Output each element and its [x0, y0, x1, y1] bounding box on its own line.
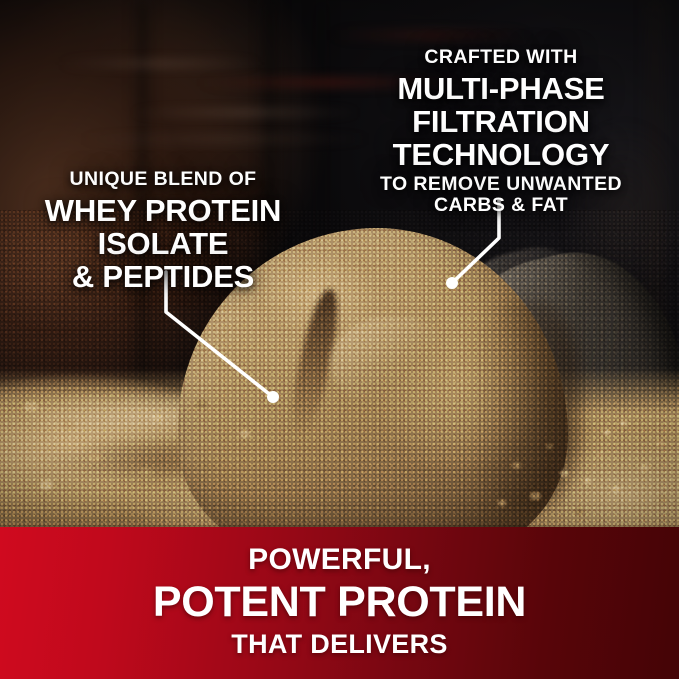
banner-line-2: POTENT PROTEIN	[0, 581, 679, 624]
bottom-banner: POWERFUL, POTENT PROTEIN THAT DELIVERS	[0, 527, 679, 679]
banner-line-1: POWERFUL,	[0, 545, 679, 575]
callout-right-line-3: FILTRATION	[372, 106, 630, 137]
callout-right-line-4: TECHNOLOGY	[372, 139, 630, 170]
callout-left: UNIQUE BLEND OF WHEY PROTEIN ISOLATE & P…	[18, 170, 308, 294]
callout-left-line-4: & PEPTIDES	[18, 261, 308, 292]
callout-right-line-5: TO REMOVE UNWANTED	[372, 175, 630, 195]
callout-left-line-3: ISOLATE	[18, 228, 308, 259]
product-hero-image: UNIQUE BLEND OF WHEY PROTEIN ISOLATE & P…	[0, 0, 679, 679]
leader-dot-left	[267, 391, 279, 403]
callout-left-line-1: UNIQUE BLEND OF	[18, 170, 308, 190]
callout-left-line-2: WHEY PROTEIN	[18, 195, 308, 226]
leader-dot-right	[446, 277, 458, 289]
callout-right: CRAFTED WITH MULTI-PHASE FILTRATION TECH…	[372, 48, 630, 216]
callout-right-line-2: MULTI-PHASE	[372, 73, 630, 104]
callout-right-line-1: CRAFTED WITH	[372, 48, 630, 68]
banner-line-3: THAT DELIVERS	[0, 631, 679, 658]
callout-right-line-6: CARBS & FAT	[372, 196, 630, 216]
